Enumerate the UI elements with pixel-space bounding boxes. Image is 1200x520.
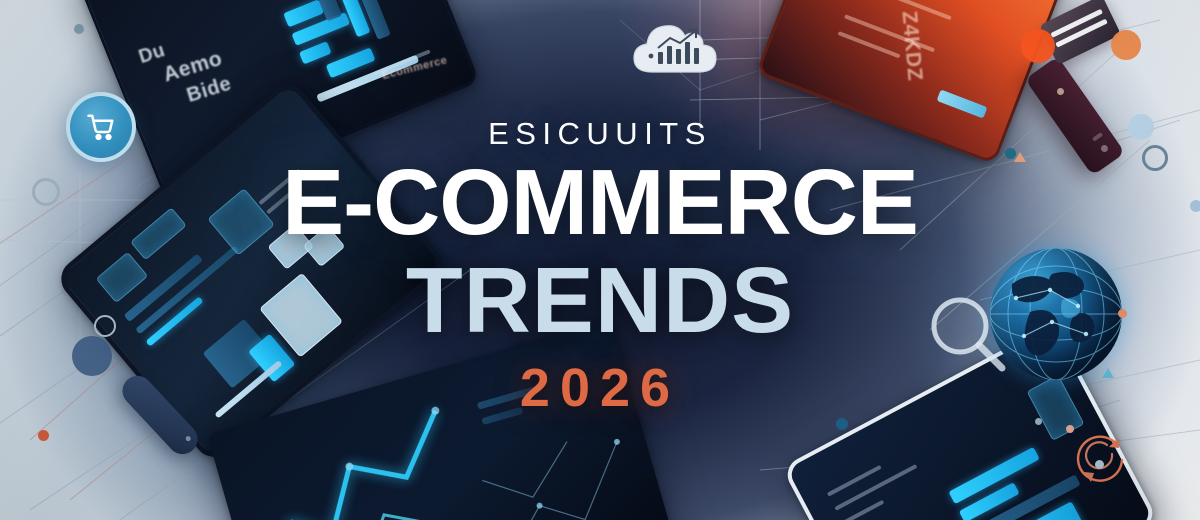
- accent-dot-gray-4: [74, 24, 84, 34]
- accent-ring-2: [32, 178, 60, 206]
- accent-dot-blue-2: [1190, 200, 1200, 212]
- accent-dot-orange-5: [38, 430, 49, 441]
- accent-dot-teal-2: [836, 418, 848, 430]
- accent-ring-3: [94, 315, 116, 337]
- accent-dot-gray-2: [1095, 460, 1104, 469]
- shopping-cart-badge-icon: [66, 92, 136, 162]
- accent-dot-orange-4: [1066, 425, 1074, 433]
- phone-speaker-icon: [1092, 132, 1103, 142]
- phone-camera-icon: [1100, 144, 1110, 154]
- accent-dot-orange-3: [1118, 309, 1127, 318]
- network-globe-icon: [990, 248, 1122, 380]
- accent-dot-orange-1: [1021, 29, 1055, 63]
- refresh-cycle-icon: [1068, 424, 1132, 488]
- accent-dot-gray-1: [1035, 418, 1042, 425]
- accent-ring-1: [1142, 145, 1168, 171]
- accent-dot-blue-1: [1128, 114, 1154, 140]
- cloud-analytics-icon: [628, 18, 724, 78]
- tablet-top-right-text: Z4KDZ: [897, 10, 927, 82]
- accent-dot-gray-3: [1057, 88, 1064, 95]
- accent-triangle-orange: [1014, 152, 1026, 162]
- pill-indicator-dot: [185, 435, 192, 442]
- accent-dot-navy-1: [72, 336, 112, 376]
- accent-triangle-teal: [1102, 368, 1114, 378]
- magnifier-icon: [926, 292, 1008, 374]
- accent-dot-orange-2: [1111, 30, 1141, 60]
- ecommerce-trends-banner: Du Aemo Bide Ecommerce: [0, 0, 1200, 520]
